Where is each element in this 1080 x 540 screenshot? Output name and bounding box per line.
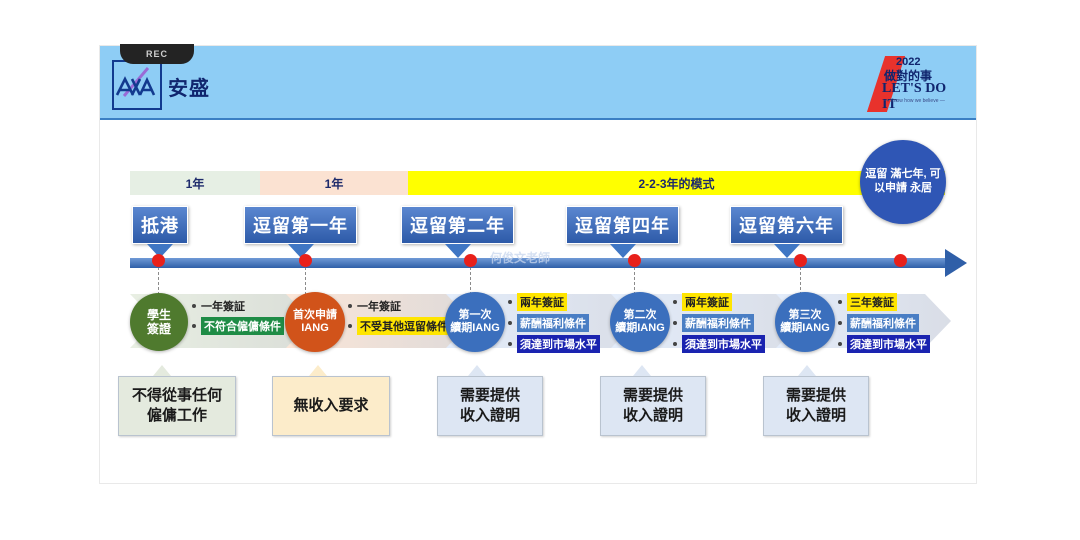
milestone-label: 逗留第六年 xyxy=(730,206,843,244)
stage-note-4: 需要提供 收入證明 xyxy=(600,376,706,436)
bullet-dot-icon xyxy=(508,342,512,346)
milestone-3: 逗留第二年 xyxy=(401,206,514,258)
bullet-text: 兩年簽証 xyxy=(517,293,567,311)
bullet-row: 薪酬福利條件 xyxy=(673,314,765,332)
stage-bullets-1: 一年簽証不符合僱傭條件 xyxy=(192,298,284,338)
bullet-text: 薪酬福利條件 xyxy=(847,314,919,332)
bullet-text: 三年簽証 xyxy=(847,293,897,311)
milestone-label: 逗留第一年 xyxy=(244,206,357,244)
bullet-row: 兩年簽証 xyxy=(508,293,600,311)
bullet-text: 須達到市場水平 xyxy=(682,335,765,353)
brand-name: 安盛 xyxy=(168,72,210,101)
bullet-row: 須達到市場水平 xyxy=(673,335,765,353)
note-tip-2 xyxy=(309,365,327,376)
note-tip-4 xyxy=(633,365,651,376)
timeline-dot-5 xyxy=(794,254,807,267)
campaign-tagline: — Know how we believe — xyxy=(884,98,945,104)
bullet-text: 須達到市場水平 xyxy=(517,335,600,353)
year-band-segment-2: 1年 xyxy=(260,171,408,195)
bullet-dot-icon xyxy=(838,300,842,304)
timeline-connector-3 xyxy=(470,267,471,295)
timeline-dot-4 xyxy=(628,254,641,267)
year-band-segment-1: 1年 xyxy=(130,171,260,195)
bullet-dot-icon xyxy=(192,324,196,328)
stage-circle-3: 第一次 續期IANG xyxy=(445,292,505,352)
bullet-row: 須達到市場水平 xyxy=(508,335,600,353)
bullet-text: 不符合僱傭條件 xyxy=(201,317,284,335)
bullet-dot-icon xyxy=(192,304,196,308)
milestone-1: 抵港 xyxy=(132,206,188,258)
timeline-connector-5 xyxy=(800,267,801,295)
bullet-dot-icon xyxy=(673,342,677,346)
timeline-dot-2 xyxy=(299,254,312,267)
recording-indicator: REC xyxy=(120,44,194,64)
milestone-4: 逗留第四年 xyxy=(566,206,679,258)
bullet-dot-icon xyxy=(838,342,842,346)
stage-bullets-4: 兩年簽証薪酬福利條件須達到市場水平 xyxy=(673,293,765,356)
stage-note-3: 需要提供 收入證明 xyxy=(437,376,543,436)
stage-circle-2: 首次申請 IANG xyxy=(285,292,345,352)
presentation-slide: 安盛 2022 做對的事 LET'S DO IT — Know how we b… xyxy=(100,46,976,483)
bullet-row: 薪酬福利條件 xyxy=(508,314,600,332)
stage-bullets-5: 三年簽証薪酬福利條件須達到市場水平 xyxy=(838,293,930,356)
bullet-text: 一年簽証 xyxy=(201,298,245,314)
permanent-residency-callout: 逗留 滿七年, 可以申請 永居 xyxy=(860,140,946,224)
stage-circle-4: 第二次 續期IANG xyxy=(610,292,670,352)
timeline-dot-6 xyxy=(894,254,907,267)
bullet-dot-icon xyxy=(348,324,352,328)
timeline-connector-4 xyxy=(634,267,635,295)
bullet-dot-icon xyxy=(348,304,352,308)
timeline-dot-3 xyxy=(464,254,477,267)
note-tip-5 xyxy=(798,365,816,376)
bullet-dot-icon xyxy=(508,321,512,325)
bullet-row: 兩年簽証 xyxy=(673,293,765,311)
stage-bullets-3: 兩年簽証薪酬福利條件須達到市場水平 xyxy=(508,293,600,356)
campaign-english: LET'S DO IT xyxy=(882,81,962,113)
timeline-connector-1 xyxy=(158,267,159,295)
bullet-text: 一年簽証 xyxy=(357,298,401,314)
bullet-text: 須達到市場水平 xyxy=(847,335,930,353)
bullet-dot-icon xyxy=(508,300,512,304)
bullet-row: 三年簽証 xyxy=(838,293,930,311)
campaign-logo: 2022 做對的事 LET'S DO IT — Know how we beli… xyxy=(870,52,962,112)
note-tip-3 xyxy=(468,365,486,376)
milestone-2: 逗留第一年 xyxy=(244,206,357,258)
timeline-arrowhead-icon xyxy=(945,249,967,277)
bullet-row: 須達到市場水平 xyxy=(838,335,930,353)
bullet-text: 薪酬福利條件 xyxy=(517,314,589,332)
bullet-text: 薪酬福利條件 xyxy=(682,314,754,332)
stage-note-1: 不得從事任何 僱傭工作 xyxy=(118,376,236,436)
slide-header: 安盛 2022 做對的事 LET'S DO IT — Know how we b… xyxy=(100,46,976,120)
axa-logo-icon xyxy=(112,60,162,110)
stage-note-5: 需要提供 收入證明 xyxy=(763,376,869,436)
milestone-label: 抵港 xyxy=(132,206,188,244)
year-band: 1年1年2-2-3年的模式 xyxy=(130,171,945,195)
stage-note-2: 無收入要求 xyxy=(272,376,390,436)
stage-circle-1: 學生 簽證 xyxy=(130,293,188,351)
milestone-5: 逗留第六年 xyxy=(730,206,843,258)
bullet-dot-icon xyxy=(673,321,677,325)
bullet-row: 一年簽証 xyxy=(192,298,284,314)
stage-circle-5: 第三次 續期IANG xyxy=(775,292,835,352)
milestone-label: 逗留第二年 xyxy=(401,206,514,244)
bullet-row: 不符合僱傭條件 xyxy=(192,317,284,335)
note-tip-1 xyxy=(153,365,171,376)
milestone-label: 逗留第四年 xyxy=(566,206,679,244)
bullet-row: 薪酬福利條件 xyxy=(838,314,930,332)
bullet-dot-icon xyxy=(673,300,677,304)
bullet-dot-icon xyxy=(838,321,842,325)
timeline-connector-2 xyxy=(305,267,306,295)
timeline-dot-1 xyxy=(152,254,165,267)
rec-label: REC xyxy=(146,49,168,59)
bullet-text: 兩年簽証 xyxy=(682,293,732,311)
